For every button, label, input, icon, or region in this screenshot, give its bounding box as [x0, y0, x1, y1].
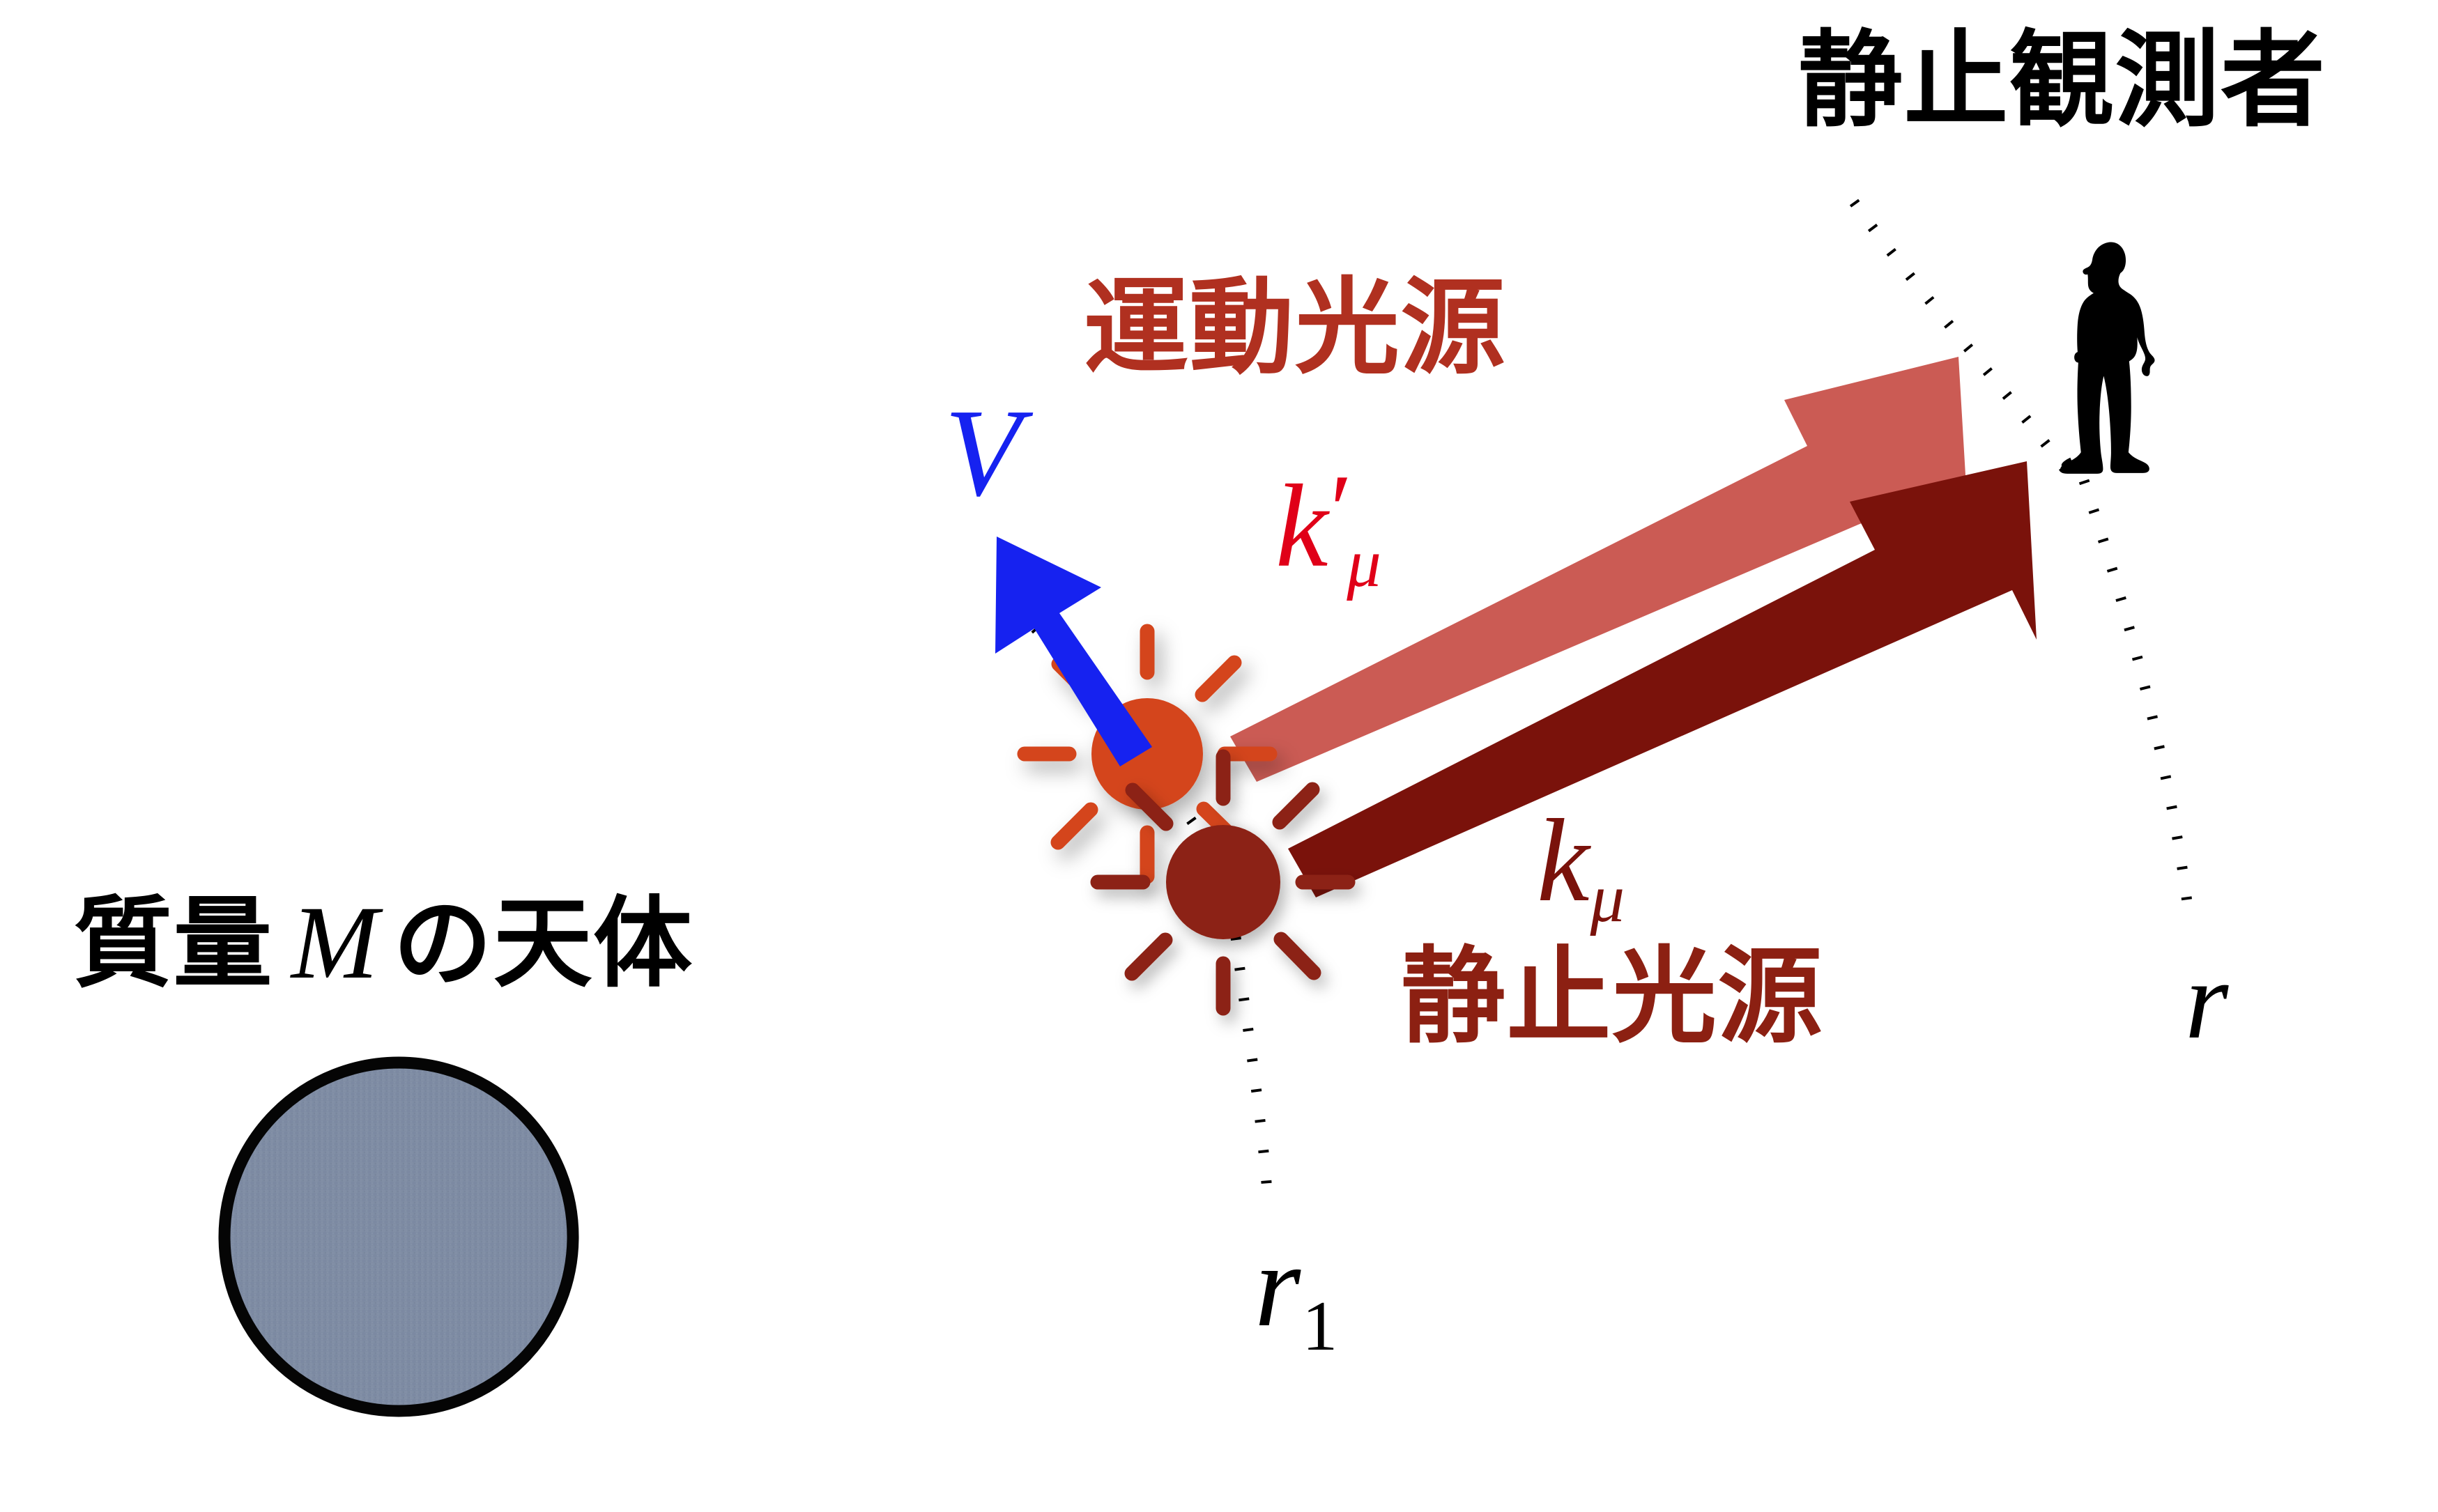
velocity-symbol: V	[944, 390, 1021, 516]
diagram-canvas: 静止観測者 運動光源 静止光源 質量Mの天体 V k′μ kμ r r1	[0, 0, 2438, 1512]
dotted-radius-arc-r	[2084, 481, 2188, 913]
k-prime-mu-symbol: k′μ	[1275, 460, 1381, 599]
dotted-leader-r1	[1236, 937, 1267, 1191]
massive-body-label-suffix: の天体	[393, 888, 693, 999]
mass-symbol: M	[273, 885, 393, 1001]
stationary-observer	[2060, 242, 2155, 473]
velocity-arrow	[995, 537, 1152, 766]
static-light-source	[1098, 757, 1348, 1008]
k-prime-base: k	[1275, 461, 1328, 592]
k-subscript: μ	[1590, 861, 1625, 936]
r1-base: r	[1255, 1220, 1301, 1351]
diagram-graphics	[0, 0, 2438, 1512]
massive-body-label-prefix: 質量	[73, 888, 273, 999]
massive-body-label: 質量Mの天体	[73, 890, 693, 995]
k-prime-subscript: μ	[1347, 525, 1381, 601]
k-mu-symbol: kμ	[1537, 801, 1625, 933]
massive-body-circle	[224, 1063, 573, 1411]
radius-observer-symbol: r	[2185, 944, 2228, 1056]
prime-mark: ′	[1324, 454, 1347, 566]
static-source-label: 静止光源	[1401, 944, 1823, 1049]
radius-source-symbol: r1	[1255, 1226, 1337, 1362]
r1-subscript: 1	[1302, 1287, 1337, 1366]
k-base: k	[1537, 795, 1589, 926]
observer-label: 静止観測者	[1798, 28, 2326, 132]
moving-source-label: 運動光源	[1084, 275, 1506, 380]
